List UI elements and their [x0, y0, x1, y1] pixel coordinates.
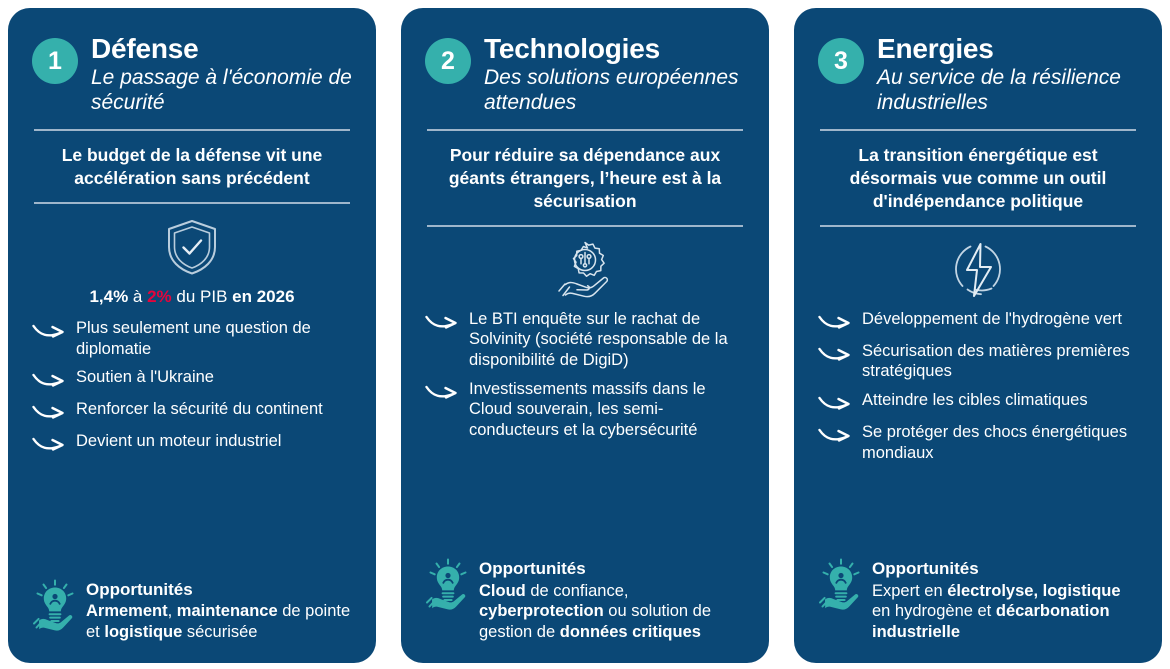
card-lead-statement: La transition énergétique est désormais …	[822, 144, 1134, 212]
lightbulb-hand-icon	[32, 579, 76, 631]
arrow-swoosh-icon	[32, 320, 66, 342]
bullet-label: Devient un moteur industriel	[76, 431, 281, 452]
bullet-label: Plus seulement une question de diplomati…	[76, 318, 352, 359]
opportunity-fragment: Expert en	[872, 582, 947, 600]
divider-bottom	[820, 225, 1136, 227]
bullet-item: Devient un moteur industriel	[32, 431, 352, 455]
card-heading-group: TechnologiesDes solutions européennes at…	[484, 34, 745, 115]
card-title: Défense	[91, 34, 352, 63]
bullet-item: Renforcer la sécurité du continent	[32, 399, 352, 423]
arrow-swoosh-icon	[32, 433, 66, 455]
opportunity-body: Cloud de confiance, cyberprotection ou s…	[479, 582, 711, 642]
divider-bottom	[34, 202, 350, 204]
bullet-list: Développement de l'hydrogène vert Sécuri…	[818, 309, 1138, 464]
card-subtitle: Des solutions européennes attendues	[484, 65, 745, 115]
opportunity-title: Opportunités	[479, 558, 745, 579]
opportunity-fragment: en hydrogène et	[872, 602, 996, 620]
card-title: Energies	[877, 34, 1138, 63]
bullet-label: Sécurisation des matières premières stra…	[862, 341, 1138, 382]
opportunity-fragment: Armement	[86, 602, 168, 620]
opportunity-body: Expert en électrolyse, logistique en hyd…	[872, 582, 1121, 642]
bullet-label: Se protéger des chocs énergétiques mondi…	[862, 422, 1138, 463]
card-header: 3EnergiesAu service de la résilience ind…	[818, 34, 1138, 115]
lightbulb-hand-icon	[818, 558, 862, 610]
opportunity-block: OpportunitésArmement, maintenance de poi…	[32, 563, 352, 643]
bullet-item: Sécurisation des matières premières stra…	[818, 341, 1138, 382]
opportunity-fragment: Cloud	[479, 582, 526, 600]
bullet-item: Soutien à l'Ukraine	[32, 367, 352, 391]
arrow-swoosh-icon	[818, 343, 852, 365]
card-3: 3EnergiesAu service de la résilience ind…	[794, 8, 1162, 663]
arrow-swoosh-icon	[818, 424, 852, 446]
opportunity-text: OpportunitésCloud de confiance, cyberpro…	[479, 558, 745, 643]
flex-spacer	[818, 463, 1138, 542]
divider-bottom	[427, 225, 743, 227]
card-number-badge: 2	[425, 38, 471, 84]
opportunity-fragment: logistique	[104, 623, 182, 641]
card-header: 2TechnologiesDes solutions européennes a…	[425, 34, 745, 115]
opportunity-title: Opportunités	[86, 579, 352, 600]
opportunity-body: Armement, maintenance de pointe et logis…	[86, 602, 350, 641]
cards-board: 1DéfenseLe passage à l'économie de sécur…	[0, 0, 1170, 669]
card-heading-group: EnergiesAu service de la résilience indu…	[877, 34, 1138, 115]
bullet-item: Développement de l'hydrogène vert	[818, 309, 1138, 333]
card-1: 1DéfenseLe passage à l'économie de sécur…	[8, 8, 376, 663]
stat-fragment: 2%	[147, 287, 172, 306]
arrow-swoosh-icon	[425, 381, 459, 403]
card-subtitle: Le passage à l'économie de sécurité	[91, 65, 352, 115]
bullet-label: Atteindre les cibles climatiques	[862, 390, 1088, 411]
bullet-list: Plus seulement une question de diplomati…	[32, 318, 352, 455]
gear-hand-icon	[425, 239, 745, 301]
card-number-badge: 1	[32, 38, 78, 84]
opportunity-fragment: cyberprotection	[479, 602, 604, 620]
card-lead-statement: Pour réduire sa dépendance aux géants ét…	[429, 144, 741, 212]
arrow-swoosh-icon	[425, 311, 459, 333]
opportunity-block: OpportunitésExpert en électrolyse, logis…	[818, 542, 1138, 643]
card-number-badge: 3	[818, 38, 864, 84]
opportunity-fragment: ,	[168, 602, 177, 620]
bullet-label: Investissements massifs dans le Cloud so…	[469, 379, 745, 441]
budget-stat: 1,4% à 2% du PIB en 2026	[32, 286, 352, 308]
bullet-item: Plus seulement une question de diplomati…	[32, 318, 352, 359]
shield-check-icon	[32, 216, 352, 278]
lightbulb-hand-icon	[425, 558, 469, 610]
bullet-item: Atteindre les cibles climatiques	[818, 390, 1138, 414]
lightning-bolt-icon	[818, 239, 1138, 301]
opportunity-fragment: sécurisée	[182, 623, 257, 641]
bullet-label: Renforcer la sécurité du continent	[76, 399, 323, 420]
flex-spacer	[425, 440, 745, 542]
arrow-swoosh-icon	[818, 311, 852, 333]
stat-fragment: à	[128, 287, 147, 306]
bullet-item: Investissements massifs dans le Cloud so…	[425, 379, 745, 441]
opportunity-fragment: données critiques	[560, 623, 701, 641]
card-title: Technologies	[484, 34, 745, 63]
opportunity-fragment: électrolyse, logistique	[947, 582, 1120, 600]
stat-fragment: 1,4%	[89, 287, 128, 306]
opportunity-text: OpportunitésArmement, maintenance de poi…	[86, 579, 352, 643]
divider-top	[34, 129, 350, 131]
opportunity-fragment: maintenance	[177, 602, 278, 620]
divider-top	[427, 129, 743, 131]
arrow-swoosh-icon	[818, 392, 852, 414]
arrow-swoosh-icon	[32, 401, 66, 423]
flex-spacer	[32, 455, 352, 563]
opportunity-title: Opportunités	[872, 558, 1138, 579]
bullet-label: Le BTI enquête sur le rachat de Solvinit…	[469, 309, 745, 371]
card-2: 2TechnologiesDes solutions européennes a…	[401, 8, 769, 663]
card-subtitle: Au service de la résilience industrielle…	[877, 65, 1138, 115]
stat-fragment: en 2026	[232, 287, 294, 306]
card-heading-group: DéfenseLe passage à l'économie de sécuri…	[91, 34, 352, 115]
bullet-label: Soutien à l'Ukraine	[76, 367, 214, 388]
opportunity-block: OpportunitésCloud de confiance, cyberpro…	[425, 542, 745, 643]
bullet-item: Se protéger des chocs énergétiques mondi…	[818, 422, 1138, 463]
divider-top	[820, 129, 1136, 131]
arrow-swoosh-icon	[32, 369, 66, 391]
opportunity-text: OpportunitésExpert en électrolyse, logis…	[872, 558, 1138, 643]
card-header: 1DéfenseLe passage à l'économie de sécur…	[32, 34, 352, 115]
bullet-item: Le BTI enquête sur le rachat de Solvinit…	[425, 309, 745, 371]
card-lead-statement: Le budget de la défense vit une accéléra…	[36, 144, 348, 190]
bullet-label: Développement de l'hydrogène vert	[862, 309, 1122, 330]
opportunity-fragment: de confiance,	[526, 582, 629, 600]
stat-fragment: du PIB	[172, 287, 232, 306]
bullet-list: Le BTI enquête sur le rachat de Solvinit…	[425, 309, 745, 441]
